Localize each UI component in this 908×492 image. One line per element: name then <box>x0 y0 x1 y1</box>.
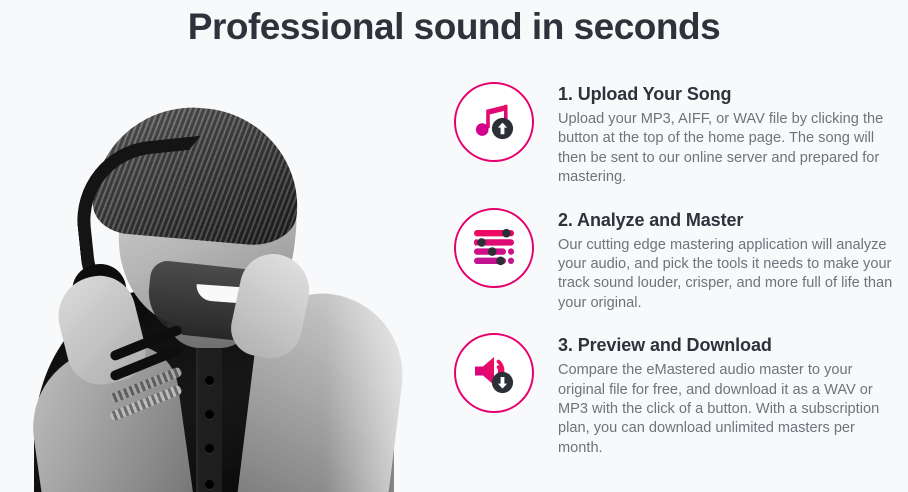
step-description: Our cutting edge mastering application w… <box>558 236 894 314</box>
hero-photo-column <box>0 62 452 492</box>
content-row: 1. Upload Your Song Upload your MP3, AIF… <box>0 62 908 492</box>
step-body: 3. Preview and Download Compare the eMas… <box>558 331 908 458</box>
equalizer-sliders-icon <box>472 227 516 269</box>
step-description: Compare the eMastered audio master to yo… <box>558 361 894 458</box>
step-icon-wrapper <box>452 206 536 290</box>
photo-shirt-button <box>205 444 214 453</box>
step-icon-wrapper <box>452 331 536 415</box>
photo-shirt-button <box>205 376 214 385</box>
page-title: Professional sound in seconds <box>0 0 908 50</box>
step-body: 2. Analyze and Master Our cutting edge m… <box>558 206 908 314</box>
step-title: 2. Analyze and Master <box>558 208 908 232</box>
step-title: 1. Upload Your Song <box>558 82 908 106</box>
landing-how-it-works-section: Professional sound in seconds <box>0 0 908 492</box>
photo-shirt-button <box>205 410 214 419</box>
photo-shirt-placket <box>196 324 222 492</box>
portrait-illustration <box>0 80 452 492</box>
headphones-man-photo <box>0 80 452 492</box>
step-description: Upload your MP3, AIFF, or WAV file by cl… <box>558 110 894 188</box>
step-body: 1. Upload Your Song Upload your MP3, AIF… <box>558 80 908 188</box>
icon-circle <box>454 333 534 413</box>
steps-column: 1. Upload Your Song Upload your MP3, AIF… <box>452 62 908 476</box>
music-note-upload-icon <box>471 99 517 145</box>
photo-shirt-button <box>205 480 214 489</box>
step-icon-wrapper <box>452 80 536 164</box>
step-item-upload: 1. Upload Your Song Upload your MP3, AIF… <box>452 80 908 188</box>
speaker-download-icon <box>471 351 517 395</box>
step-item-analyze: 2. Analyze and Master Our cutting edge m… <box>452 206 908 314</box>
icon-circle <box>454 208 534 288</box>
icon-circle <box>454 82 534 162</box>
step-item-download: 3. Preview and Download Compare the eMas… <box>452 331 908 458</box>
step-title: 3. Preview and Download <box>558 333 908 357</box>
